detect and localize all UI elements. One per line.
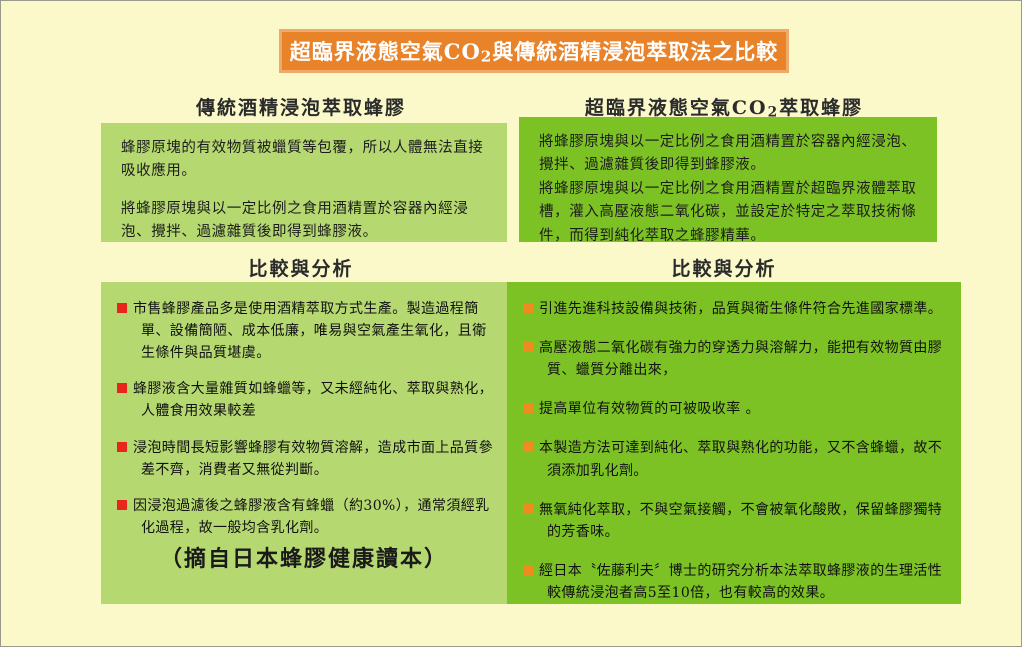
right-bullet-text-4: 本製造方法可達到純化、萃取與熟化的功能，又不含蜂蠟，故不須添加乳化劑。 bbox=[539, 440, 942, 478]
left-bullet-text-1: 市售蜂膠產品多是使用酒精萃取方式生產。製造過程簡單、設備簡陋、成本低廉，唯易與空… bbox=[133, 301, 487, 361]
bullet-square-icon bbox=[523, 565, 533, 575]
right-summary-content: 將蜂膠原塊與以一定比例之食用酒精置於容器內經浸泡、攪拌、過濾雜質後即得到蜂膠液。… bbox=[519, 117, 937, 258]
list-item: 市售蜂膠產品多是使用酒精萃取方式生產。製造過程簡單、設備簡陋、成本低廉，唯易與空… bbox=[117, 298, 493, 364]
bullet-square-icon bbox=[523, 403, 533, 413]
list-item: 因浸泡過濾後之蜂膠液含有蜂蠟（約30%），通常須經乳化過程，故一般均含乳化劑。 bbox=[117, 495, 493, 539]
left-summary-paragraph-2: 將蜂膠原塊與以一定比例之食用酒精置於容器內經浸泡、攪拌、過濾雜質後即得到蜂膠液。 bbox=[121, 198, 489, 245]
right-analysis-box: 引進先進科技設備與技術，品質與衛生條件符合先進國家標準。 高壓液態二氧化碳有強力… bbox=[507, 282, 961, 604]
bullet-square-icon bbox=[523, 342, 533, 352]
left-analysis-heading: 比較與分析 bbox=[101, 254, 501, 281]
right-summary-paragraph-1: 將蜂膠原塊與以一定比例之食用酒精置於容器內經浸泡、攪拌、過濾雜質後即得到蜂膠液。 bbox=[539, 131, 919, 178]
bullet-square-icon bbox=[117, 442, 127, 452]
right-bullet-list: 引進先進科技設備與技術，品質與衛生條件符合先進國家標準。 高壓液態二氧化碳有強力… bbox=[507, 282, 961, 604]
slide-title-banner: 超臨界液態空氣CO2與傳統酒精浸泡萃取法之比較 bbox=[279, 29, 789, 73]
right-analysis-heading: 比較與分析 bbox=[509, 254, 939, 281]
right-bullet-text-3: 提高單位有效物質的可被吸收率 。 bbox=[539, 401, 760, 417]
list-item: 提高單位有效物質的可被吸收率 。 bbox=[523, 398, 947, 420]
list-item: 本製造方法可達到純化、萃取與熟化的功能，又不含蜂蠟，故不須添加乳化劑。 bbox=[523, 437, 947, 481]
list-item: 引進先進科技設備與技術，品質與衛生條件符合先進國家標準。 bbox=[523, 298, 947, 320]
right-bullet-text-5: 無氧純化萃取，不與空氣接觸，不會被氧化酸敗，保留蜂膠獨特的芳香味。 bbox=[539, 502, 942, 540]
right-summary-paragraph-2: 將蜂膠原塊與以一定比例之食用酒精置於超臨界液體萃取槽，灌入高壓液態二氧化碳，並設… bbox=[539, 178, 919, 248]
left-bullet-text-2: 蜂膠液含大量雜質如蜂蠟等，又未經純化、萃取與熟化，人體食用效果較差 bbox=[133, 381, 493, 419]
left-bullet-list: 市售蜂膠產品多是使用酒精萃取方式生產。製造過程簡單、設備簡陋、成本低廉，唯易與空… bbox=[101, 282, 507, 539]
right-bullet-text-2: 高壓液態二氧化碳有強力的穿透力與溶解力，能把有效物質由膠質、蠟質分離出來， bbox=[539, 340, 942, 378]
list-item: 高壓液態二氧化碳有強力的穿透力與溶解力，能把有效物質由膠質、蠟質分離出來， bbox=[523, 337, 947, 381]
bullet-square-icon bbox=[523, 504, 533, 514]
left-summary-content: 蜂膠原塊的有效物質被蠟質等包覆，所以人體無法直接吸收應用。 將蜂膠原塊與以一定比… bbox=[101, 123, 507, 255]
title-subscript: 2 bbox=[481, 48, 493, 66]
list-item: 經日本〝佐藤利夫〞博士的研究分析本法萃取蜂膠液的生理活性較傳統浸泡者高5至10倍… bbox=[523, 560, 947, 604]
left-column-heading: 傳統酒精浸泡萃取蜂膠 bbox=[101, 93, 501, 120]
list-item: 浸泡時間長短影響蜂膠有效物質溶解，造成市面上品質參差不齊，消費者又無從判斷。 bbox=[117, 437, 493, 481]
bullet-square-icon bbox=[117, 383, 127, 393]
left-summary-paragraph-1: 蜂膠原塊的有效物質被蠟質等包覆，所以人體無法直接吸收應用。 bbox=[121, 137, 489, 184]
source-citation: （摘自日本蜂膠健康讀本） bbox=[101, 541, 507, 573]
right-bullet-text-1: 引進先進科技設備與技術，品質與衛生條件符合先進國家標準。 bbox=[539, 301, 942, 317]
list-item: 無氧純化萃取，不與空氣接觸，不會被氧化酸敗，保留蜂膠獨特的芳香味。 bbox=[523, 499, 947, 543]
left-bullet-text-4: 因浸泡過濾後之蜂膠液含有蜂蠟（約30%），通常須經乳化過程，故一般均含乳化劑。 bbox=[133, 498, 490, 536]
bullet-square-icon bbox=[117, 303, 127, 313]
left-summary-box: 蜂膠原塊的有效物質被蠟質等包覆，所以人體無法直接吸收應用。 將蜂膠原塊與以一定比… bbox=[101, 123, 507, 242]
list-item: 蜂膠液含大量雜質如蜂蠟等，又未經純化、萃取與熟化，人體食用效果較差 bbox=[117, 378, 493, 422]
bullet-square-icon bbox=[523, 303, 533, 313]
right-bullet-text-6: 經日本〝佐藤利夫〞博士的研究分析本法萃取蜂膠液的生理活性較傳統浸泡者高5至10倍… bbox=[539, 563, 942, 601]
right-summary-box: 將蜂膠原塊與以一定比例之食用酒精置於容器內經浸泡、攪拌、過濾雜質後即得到蜂膠液。… bbox=[519, 117, 937, 242]
bullet-square-icon bbox=[523, 442, 533, 452]
slide-title-text: 超臨界液態空氣CO2與傳統酒精浸泡萃取法之比較 bbox=[290, 36, 779, 66]
comparison-slide: 超臨界液態空氣CO2與傳統酒精浸泡萃取法之比較 傳統酒精浸泡萃取蜂膠 超臨界液態… bbox=[0, 0, 1022, 647]
bullet-square-icon bbox=[117, 500, 127, 510]
left-bullet-text-3: 浸泡時間長短影響蜂膠有效物質溶解，造成市面上品質參差不齊，消費者又無從判斷。 bbox=[133, 440, 493, 478]
